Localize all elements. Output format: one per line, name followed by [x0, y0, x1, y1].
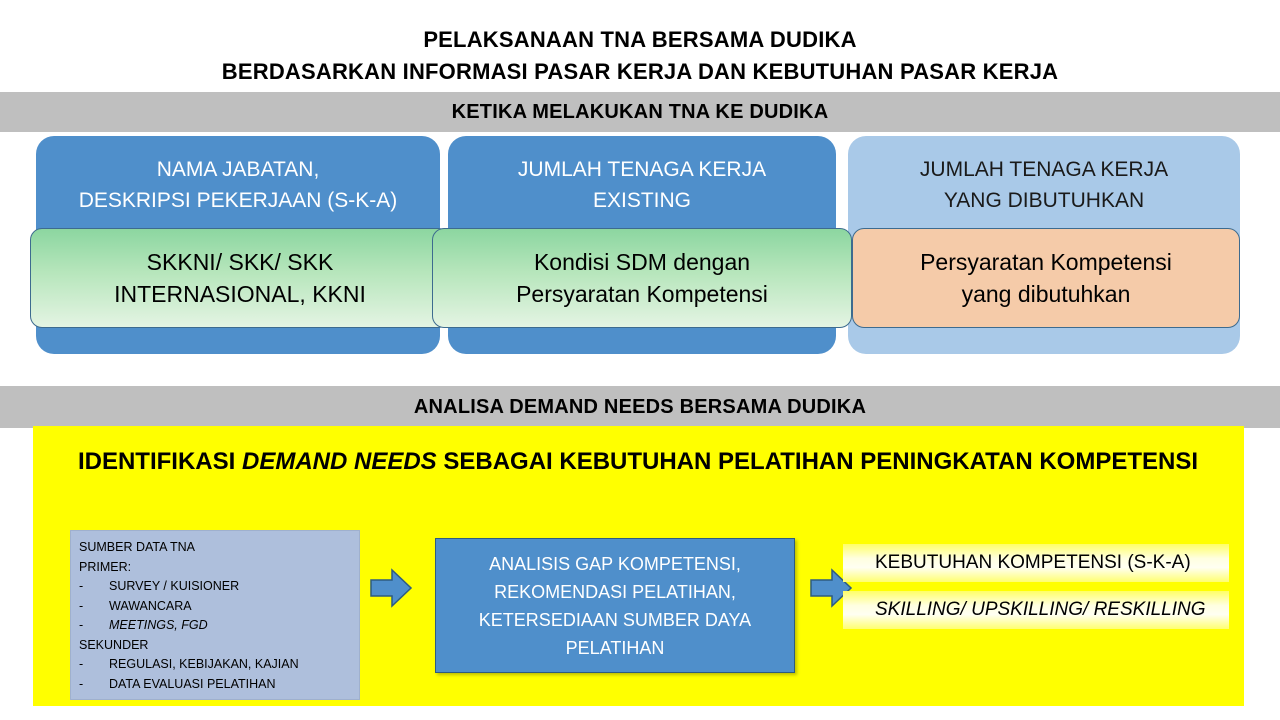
overlay-2-line-2: Persyaratan Kompetensi: [516, 281, 768, 307]
heading-part-1: IDENTIFIKASI: [78, 448, 242, 475]
analysis-line-2: REKOMENDASI PELATIHAN,: [494, 578, 736, 606]
sekunder-item-2: DATA EVALUASI PELATIHAN: [109, 675, 276, 695]
list-item: - REGULASI, KEBIJAKAN, KAJIAN: [79, 655, 351, 675]
card-group: NAMA JABATAN, DESKRIPSI PEKERJAAN (S-K-A…: [0, 136, 1280, 366]
sumber-data-tna-box: SUMBER DATA TNA PRIMER: - SURVEY / KUISI…: [70, 530, 360, 700]
analysis-line-3: KETERSEDIAAN SUMBER DAYA: [479, 606, 751, 634]
sumber-data-title: SUMBER DATA TNA: [79, 538, 351, 558]
list-item: - MEETINGS, FGD: [79, 616, 351, 636]
page-title: PELAKSANAAN TNA BERSAMA DUDIKA BERDASARK…: [0, 24, 1280, 88]
heading-part-2: SEBAGAI KEBUTUHAN PELATIHAN PENINGKATAN …: [437, 448, 1198, 475]
yellow-panel: IDENTIFIKASI DEMAND NEEDS SEBAGAI KEBUTU…: [33, 426, 1244, 706]
list-item: - DATA EVALUASI PELATIHAN: [79, 675, 351, 695]
list-item: - SURVEY / KUISIONER: [79, 577, 351, 597]
primer-label: PRIMER:: [79, 558, 351, 578]
overlay-persyaratan-kompetensi: Persyaratan Kompetensi yang dibutuhkan: [852, 228, 1240, 328]
section-header-ketika-melakukan-tna: KETIKA MELAKUKAN TNA KE DUDIKA: [0, 92, 1280, 132]
card-1-header-line-2: DESKRIPSI PEKERJAAN (S-K-A): [36, 185, 440, 216]
page-title-line-2: BERDASARKAN INFORMASI PASAR KERJA DAN KE…: [0, 56, 1280, 88]
output-kebutuhan-kompetensi: KEBUTUHAN KOMPETENSI (S-K-A): [843, 544, 1229, 582]
overlay-3-line-1: Persyaratan Kompetensi: [920, 249, 1172, 275]
list-item: - WAWANCARA: [79, 597, 351, 617]
card-2-header-line-2: EXISTING: [448, 185, 836, 216]
overlay-3-line-2: yang dibutuhkan: [962, 281, 1131, 307]
bullet-dash-icon: -: [79, 655, 109, 675]
overlay-1-line-2: INTERNASIONAL, KKNI: [114, 281, 366, 307]
card-1-header-line-1: NAMA JABATAN,: [36, 154, 440, 185]
yellow-panel-heading: IDENTIFIKASI DEMAND NEEDS SEBAGAI KEBUTU…: [73, 444, 1203, 480]
output-skilling-upskilling-reskilling: SKILLING/ UPSKILLING/ RESKILLING: [843, 591, 1229, 629]
card-2-header-line-1: JUMLAH TENAGA KERJA: [448, 154, 836, 185]
bullet-dash-icon: -: [79, 597, 109, 617]
primer-item-1: SURVEY / KUISIONER: [109, 577, 239, 597]
overlay-1-line-1: SKKNI/ SKK/ SKK: [147, 249, 334, 275]
overlay-2-line-1: Kondisi SDM dengan: [534, 249, 750, 275]
primer-item-2: WAWANCARA: [109, 597, 192, 617]
bullet-dash-icon: -: [79, 616, 109, 636]
overlay-kondisi-sdm: Kondisi SDM dengan Persyaratan Kompetens…: [432, 228, 852, 328]
overlay-skkni: SKKNI/ SKK/ SKK INTERNASIONAL, KKNI: [30, 228, 450, 328]
primer-item-3: MEETINGS, FGD: [109, 616, 208, 636]
page-title-line-1: PELAKSANAAN TNA BERSAMA DUDIKA: [0, 24, 1280, 56]
right-arrow-icon: [370, 568, 412, 608]
section-header-analisa-demand-needs: ANALISA DEMAND NEEDS BERSAMA DUDIKA: [0, 386, 1280, 428]
sekunder-label: SEKUNDER: [79, 636, 351, 656]
slide-canvas: PELAKSANAAN TNA BERSAMA DUDIKA BERDASARK…: [0, 0, 1280, 720]
analysis-line-4: PELATIHAN: [566, 634, 665, 662]
bullet-dash-icon: -: [79, 577, 109, 597]
card-3-header-line-2: YANG DIBUTUHKAN: [848, 185, 1240, 216]
card-3-header-line-1: JUMLAH TENAGA KERJA: [848, 154, 1240, 185]
bullet-dash-icon: -: [79, 675, 109, 695]
sekunder-item-1: REGULASI, KEBIJAKAN, KAJIAN: [109, 655, 299, 675]
analisis-gap-kompetensi-box: ANALISIS GAP KOMPETENSI, REKOMENDASI PEL…: [435, 538, 795, 673]
heading-emphasis: DEMAND NEEDS: [242, 448, 437, 475]
analysis-line-1: ANALISIS GAP KOMPETENSI,: [489, 550, 741, 578]
